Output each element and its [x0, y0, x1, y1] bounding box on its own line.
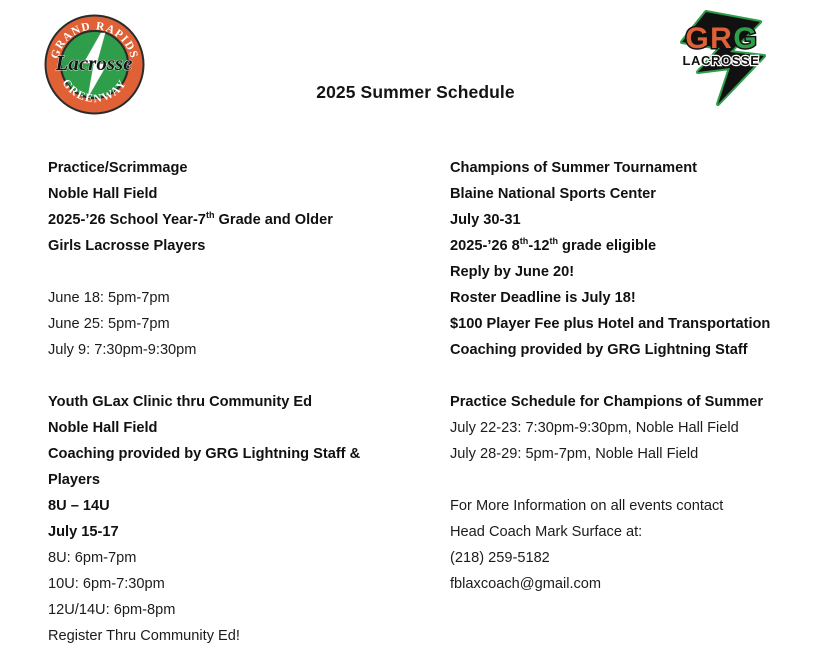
- youth-clinic-dates: July 15-17: [48, 519, 425, 545]
- champions-tournament-heading: Champions of Summer Tournament: [450, 155, 831, 181]
- svg-text:G: G: [685, 22, 708, 55]
- contact-section: For More Information on all events conta…: [450, 493, 831, 597]
- practice-scrimmage-venue: Noble Hall Field: [48, 181, 425, 207]
- youth-clinic-age-range: 8U – 14U: [48, 493, 425, 519]
- left-column: Practice/Scrimmage Noble Hall Field 2025…: [0, 155, 425, 649]
- grade-line-superscript-2: th: [549, 236, 558, 246]
- champions-practice-heading: Practice Schedule for Champions of Summe…: [450, 389, 831, 415]
- youth-clinic-coaching-line-1: Coaching provided by GRG Lightning Staff…: [48, 441, 425, 467]
- spacer: [450, 467, 831, 493]
- contact-intro: For More Information on all events conta…: [450, 493, 831, 519]
- practice-scrimmage-section: Practice/Scrimmage Noble Hall Field 2025…: [48, 155, 425, 363]
- grade-line-before: 2025-’26 8: [450, 238, 520, 254]
- practice-scrimmage-heading: Practice/Scrimmage: [48, 155, 425, 181]
- champions-tournament-section: Champions of Summer Tournament Blaine Na…: [450, 155, 831, 363]
- contact-phone[interactable]: (218) 259-5182: [450, 545, 831, 571]
- grade-line-after: grade eligible: [558, 238, 656, 254]
- svg-text:R: R: [710, 22, 732, 55]
- schedule-columns: Practice/Scrimmage Noble Hall Field 2025…: [0, 155, 831, 649]
- practice-scrimmage-grade-line: 2025-’26 School Year-7th Grade and Older: [48, 207, 425, 233]
- champions-practice-date-2: July 28-29: 5pm-7pm, Noble Hall Field: [450, 441, 831, 467]
- spacer: [450, 363, 831, 389]
- svg-text:Lacrosse: Lacrosse: [55, 51, 133, 75]
- practice-date-2: June 25: 5pm-7pm: [48, 311, 425, 337]
- svg-text:LACROSSE: LACROSSE: [682, 53, 759, 68]
- right-column: Champions of Summer Tournament Blaine Na…: [425, 155, 831, 649]
- spacer: [48, 363, 425, 389]
- practice-scrimmage-players: Girls Lacrosse Players: [48, 233, 425, 259]
- champions-practice-schedule-section: Practice Schedule for Champions of Summe…: [450, 389, 831, 467]
- champions-tournament-dates: July 30-31: [450, 207, 831, 233]
- practice-date-1: June 18: 5pm-7pm: [48, 285, 425, 311]
- grade-line-before: 2025-’26 School Year-7: [48, 212, 206, 228]
- youth-clinic-heading: Youth GLax Clinic thru Community Ed: [48, 389, 425, 415]
- champions-tournament-grade-line: 2025-’26 8th-12th grade eligible: [450, 233, 831, 259]
- champions-roster-deadline: Roster Deadline is July 18!: [450, 285, 831, 311]
- champions-reply-deadline: Reply by June 20!: [450, 259, 831, 285]
- champions-player-fee: $100 Player Fee plus Hotel and Transport…: [450, 311, 831, 337]
- spacer: [48, 259, 425, 285]
- flyer-header: GRAND RAPIDS GREENWAY Lacrosse G R G LAC…: [0, 0, 831, 125]
- champions-practice-date-1: July 22-23: 7:30pm-9:30pm, Noble Hall Fi…: [450, 415, 831, 441]
- page-title: 2025 Summer Schedule: [0, 82, 831, 103]
- champions-coaching-note: Coaching provided by GRG Lightning Staff: [450, 337, 831, 363]
- youth-clinic-time-10u: 10U: 6pm-7:30pm: [48, 571, 425, 597]
- contact-coach-name: Head Coach Mark Surface at:: [450, 519, 831, 545]
- practice-date-3: July 9: 7:30pm-9:30pm: [48, 337, 425, 363]
- youth-clinic-register-note: Register Thru Community Ed!: [48, 623, 425, 649]
- svg-text:G: G: [733, 22, 756, 55]
- contact-email[interactable]: fblaxcoach@gmail.com: [450, 571, 831, 597]
- youth-clinic-time-8u: 8U: 6pm-7pm: [48, 545, 425, 571]
- grade-line-after: Grade and Older: [214, 212, 332, 228]
- youth-clinic-venue: Noble Hall Field: [48, 415, 425, 441]
- youth-clinic-coaching-line-2: Players: [48, 467, 425, 493]
- grade-line-middle: -12: [528, 238, 549, 254]
- youth-clinic-time-12u-14u: 12U/14U: 6pm-8pm: [48, 597, 425, 623]
- youth-clinic-section: Youth GLax Clinic thru Community Ed Nobl…: [48, 389, 425, 649]
- champions-tournament-venue: Blaine National Sports Center: [450, 181, 831, 207]
